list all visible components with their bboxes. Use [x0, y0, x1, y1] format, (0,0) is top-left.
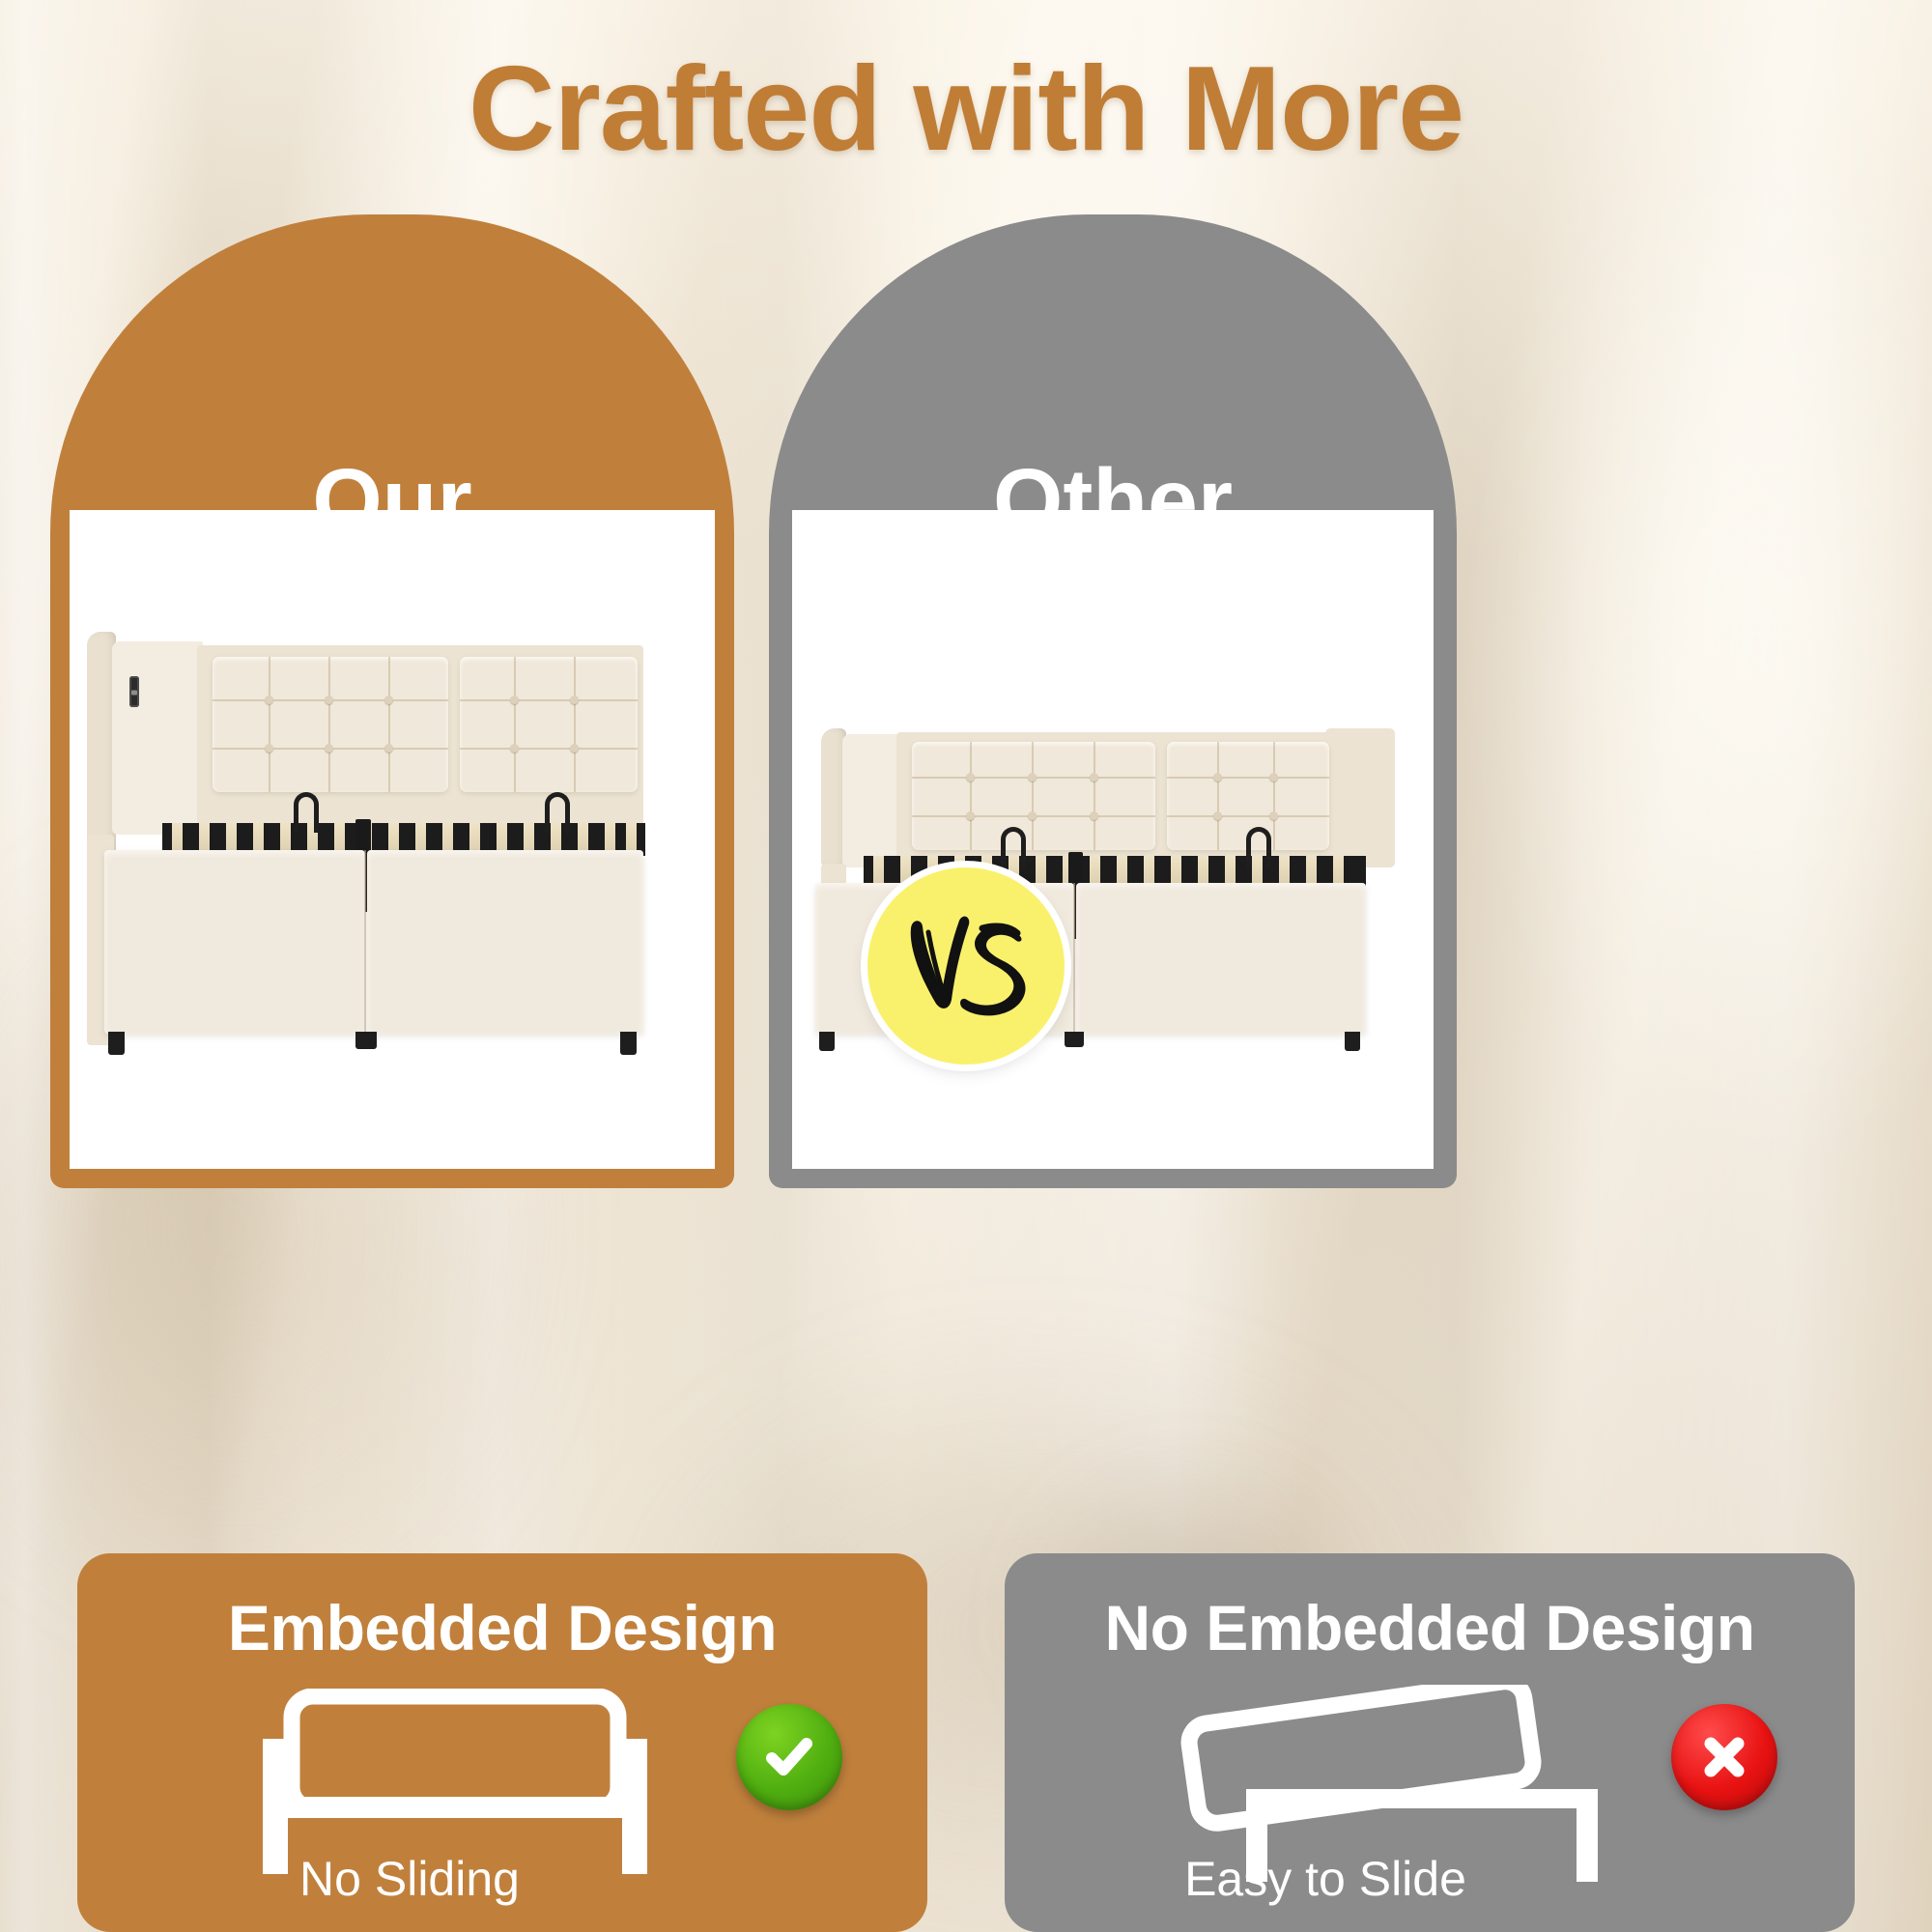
bed-illustration-other: [792, 510, 1434, 1169]
bed-side-wing-front-other: [842, 734, 902, 867]
slat-hook-right-other: [1246, 827, 1271, 867]
bed-leg-center-other: [1065, 1032, 1084, 1047]
bed-leg-center-our: [355, 1032, 377, 1049]
charging-port-icon: [129, 676, 139, 707]
slat-hook-left-our: [294, 792, 319, 833]
page-title: Crafted with More: [0, 41, 1932, 178]
tufted-panel-left-other: [912, 742, 1155, 850]
vs-badge: [867, 867, 1065, 1065]
feature-banner-other: No Embedded Design Easy to Slide: [1005, 1553, 1855, 1932]
product-photo-other: [792, 510, 1434, 1169]
bed-rail-left-our: [104, 850, 365, 1034]
bed-leg-left-our: [108, 1032, 125, 1055]
feature-banner-caption-other: Easy to Slide: [1005, 1851, 1750, 1907]
bed-side-wing-front-our: [112, 641, 203, 835]
feature-banner-title-our: Embedded Design: [77, 1596, 927, 1660]
bed-leg-right-our: [620, 1032, 637, 1055]
bed-leg-left-other: [819, 1032, 835, 1051]
slat-hook-left-other: [1001, 827, 1026, 867]
background-highlight-blob-right: [1488, 116, 1932, 1179]
comparison-panel-other: Other Low Profile, Low Comfort: [769, 214, 1457, 1188]
tufted-panel-right-our: [460, 657, 638, 792]
bed-illustration-our: [70, 510, 715, 1169]
product-photo-our: [70, 510, 715, 1169]
cross-badge: [1671, 1704, 1777, 1810]
slat-hook-right-our: [545, 792, 570, 833]
check-badge: [736, 1704, 842, 1810]
bed-leg-right-other: [1345, 1032, 1360, 1051]
bed-rail-right-other: [1076, 883, 1366, 1034]
comparison-panel-our: Our Higher Back, Deeper Comfort: [50, 214, 734, 1188]
bed-rail-right-our: [367, 850, 643, 1034]
feature-banner-caption-our: No Sliding: [77, 1851, 835, 1907]
feature-banner-title-other: No Embedded Design: [1005, 1596, 1855, 1660]
tufted-panel-left-our: [213, 657, 448, 792]
feature-banner-our: Embedded Design No Sliding: [77, 1553, 927, 1932]
